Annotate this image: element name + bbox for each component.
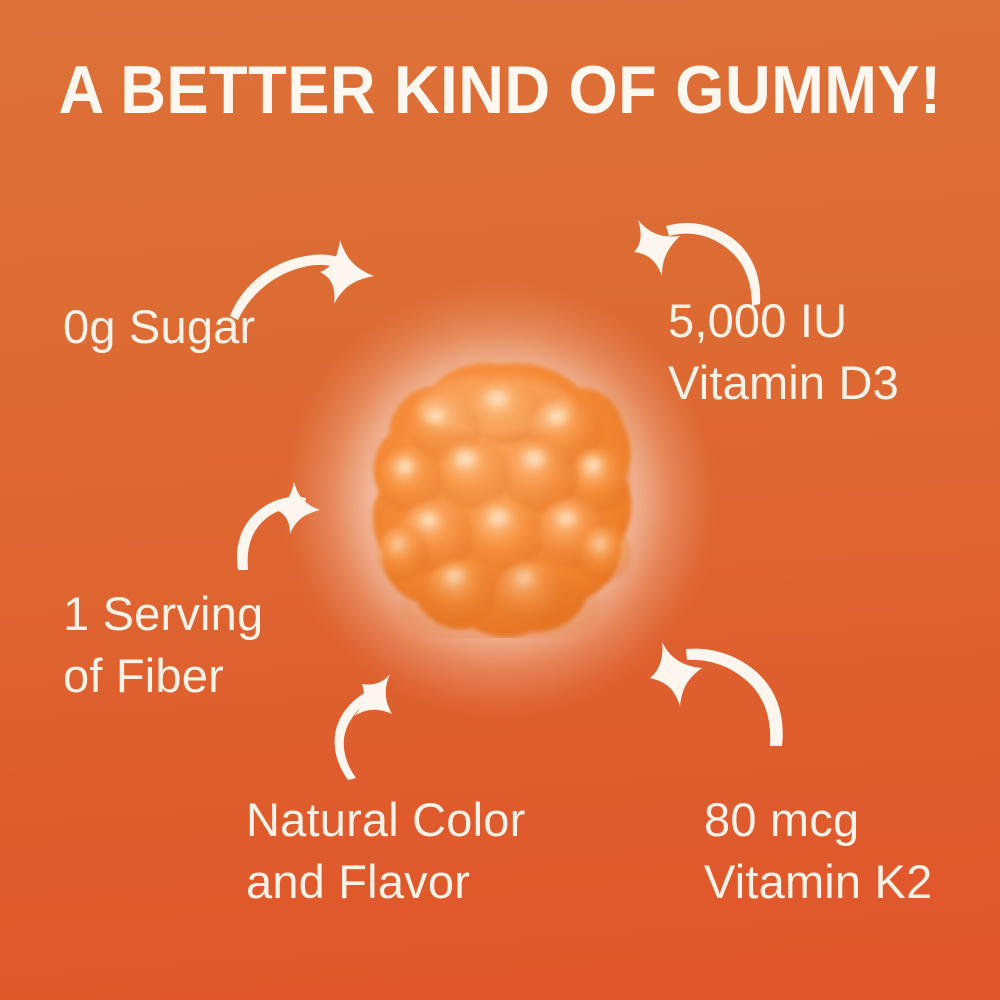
callout-vitamin-d3: 5,000 IU Vitamin D3: [668, 290, 899, 414]
callout-vitamin-k2: 80 mcg Vitamin K2: [704, 789, 932, 913]
curved-arrow-up-icon: [322, 672, 412, 782]
callout-fiber: 1 Serving of Fiber: [63, 583, 263, 707]
curved-arrow-up-left-icon: [650, 638, 790, 748]
curved-arrow-up-right-icon: [228, 482, 338, 572]
gummy-benefits-poster: A BETTER KIND OF GUMMY!: [0, 0, 1000, 1000]
callout-natural-color-and-flavor: Natural Color and Flavor: [246, 789, 525, 913]
orange-gummy-icon: [365, 358, 637, 638]
page-title: A BETTER KIND OF GUMMY!: [35, 56, 965, 124]
callout-sugar: 0g Sugar: [63, 296, 255, 358]
product-image: [330, 330, 670, 670]
